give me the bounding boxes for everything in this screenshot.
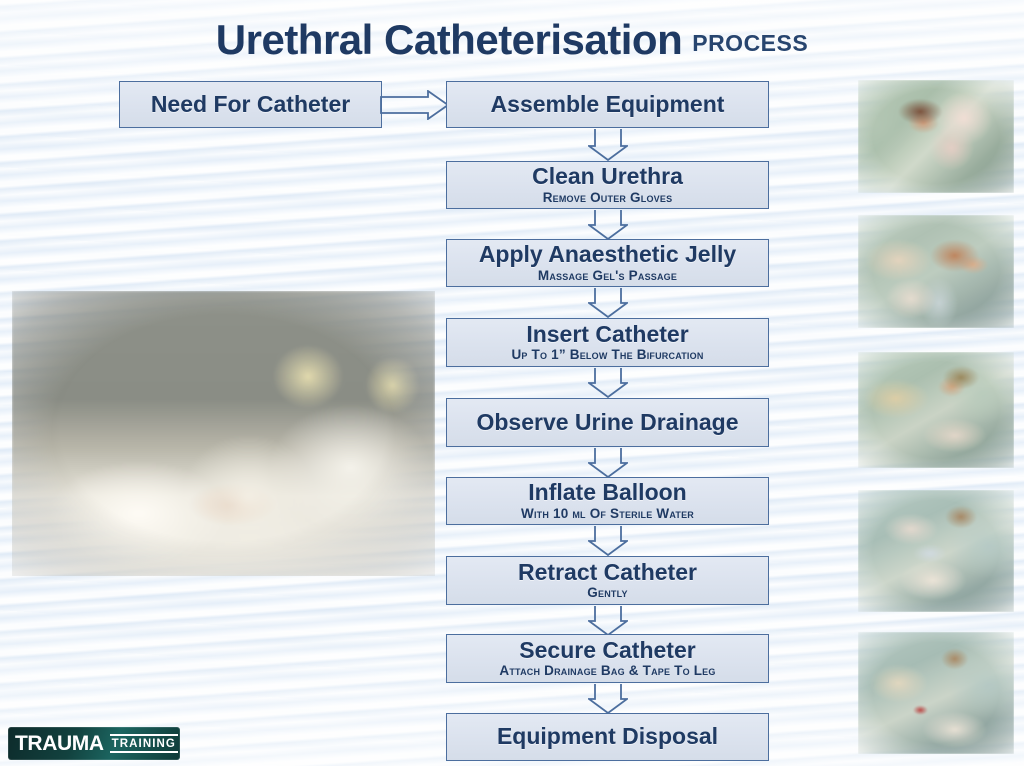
photo-inflate-balloon-image	[858, 490, 1014, 612]
arrow-down-1	[588, 128, 628, 161]
photo-clean-urethra-image	[858, 80, 1014, 193]
flow-box-title: Need For Catheter	[151, 93, 350, 117]
trauma-training-logo: TRAUMA TRAINING	[8, 727, 180, 760]
arrow-down-8	[588, 683, 628, 714]
flow-box-title: Assemble Equipment	[491, 93, 725, 117]
photo-apply-jelly-image	[858, 215, 1014, 328]
title-sub-text: PROCESS	[692, 30, 808, 56]
flow-box-title: Equipment Disposal	[497, 725, 718, 749]
arrow-down-4	[588, 367, 628, 398]
flow-box-equipment-disposal[interactable]: Equipment Disposal	[446, 713, 769, 761]
arrow-down-7	[588, 605, 628, 636]
photo-vignette	[12, 291, 435, 576]
photo-secure-catheter	[858, 632, 1014, 754]
flow-box-title: Insert Catheter	[526, 323, 688, 347]
flow-box-subtitle: With 10 ml Of Sterile Water	[521, 507, 694, 521]
logo-word-trauma: TRAUMA	[15, 732, 104, 756]
flow-box-subtitle: Gently	[587, 586, 627, 600]
flow-box-retract-catheter[interactable]: Retract Catheter Gently	[446, 556, 769, 605]
flow-box-observe-urine-drainage[interactable]: Observe Urine Drainage	[446, 398, 769, 447]
photo-insert-catheter-image	[858, 352, 1014, 468]
logo-rule-bottom	[110, 751, 178, 753]
flow-box-title: Retract Catheter	[518, 561, 697, 585]
title-main-text: Urethral Catheterisation	[216, 16, 682, 63]
photo-secure-catheter-image	[858, 632, 1014, 754]
flow-box-subtitle: Attach Drainage Bag & Tape To Leg	[499, 664, 715, 678]
logo-training-block: TRAINING	[110, 734, 178, 753]
flow-box-clean-urethra[interactable]: Clean Urethra Remove Outer Gloves	[446, 161, 769, 209]
flow-box-secure-catheter[interactable]: Secure Catheter Attach Drainage Bag & Ta…	[446, 634, 769, 683]
arrow-right-to-assemble	[380, 90, 450, 120]
slide-canvas: Urethral CatheterisationPROCESS Need For…	[0, 0, 1024, 766]
flow-box-subtitle: Up To 1” Below The Bifurcation	[511, 348, 703, 362]
photo-clean-urethra	[858, 80, 1014, 193]
page-title: Urethral CatheterisationPROCESS	[0, 16, 1024, 64]
photo-inflate-balloon	[858, 490, 1014, 612]
logo-word-training: TRAINING	[110, 736, 178, 751]
flow-box-title: Clean Urethra	[532, 165, 683, 189]
flow-box-title: Apply Anaesthetic Jelly	[479, 243, 736, 267]
photo-draping-procedure	[12, 291, 435, 576]
flow-box-subtitle: Remove Outer Gloves	[543, 191, 673, 205]
arrow-down-5	[588, 447, 628, 478]
flow-box-title: Inflate Balloon	[528, 481, 686, 505]
flow-box-subtitle: Massage Gel's Passage	[538, 269, 677, 283]
flow-box-title: Secure Catheter	[519, 639, 695, 663]
arrow-down-2	[588, 209, 628, 240]
flow-box-need-for-catheter[interactable]: Need For Catheter	[119, 81, 382, 128]
photo-apply-jelly	[858, 215, 1014, 328]
flow-box-insert-catheter[interactable]: Insert Catheter Up To 1” Below The Bifur…	[446, 318, 769, 367]
photo-insert-catheter	[858, 352, 1014, 468]
flow-box-apply-anaesthetic-jelly[interactable]: Apply Anaesthetic Jelly Massage Gel's Pa…	[446, 239, 769, 287]
flow-box-inflate-balloon[interactable]: Inflate Balloon With 10 ml Of Sterile Wa…	[446, 477, 769, 525]
arrow-down-6	[588, 525, 628, 556]
flow-box-title: Observe Urine Drainage	[476, 411, 738, 435]
flow-box-assemble-equipment[interactable]: Assemble Equipment	[446, 81, 769, 128]
arrow-down-3	[588, 287, 628, 318]
